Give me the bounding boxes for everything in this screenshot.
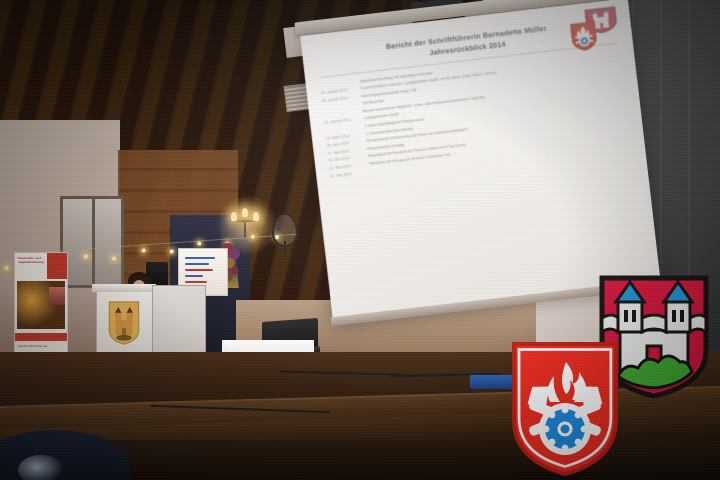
banner-red-block — [47, 253, 67, 279]
rollup-banner: Feuerwehr- und Jugendförderung www.ffw-r… — [14, 252, 68, 364]
presentation-photo: Bericht der Schriftführerin Bernadette M… — [0, 0, 720, 480]
lectern-top — [92, 284, 156, 292]
banner-photo-inset — [49, 287, 65, 305]
oval-wall-ornament — [272, 213, 298, 247]
projector-mount — [422, 0, 430, 4]
slide-emblems — [567, 5, 625, 51]
audience-highlight — [18, 455, 64, 480]
slide-row-date: 27. Mai 2014 — [330, 169, 370, 178]
wall-sconce — [230, 208, 264, 242]
feuerwehr-emblem-icon — [506, 336, 624, 480]
lectern-coat-of-arms-icon — [108, 300, 140, 346]
banner-url: www.ffw-rattenkirchen.de — [18, 345, 47, 348]
slide-fire-brigade-icon — [568, 20, 599, 53]
banner-red-bar — [15, 333, 67, 341]
slide-body-rows: Jugendversammlung mit Jugendsprecherwahl… — [320, 49, 631, 179]
slide-row-date — [320, 79, 360, 84]
